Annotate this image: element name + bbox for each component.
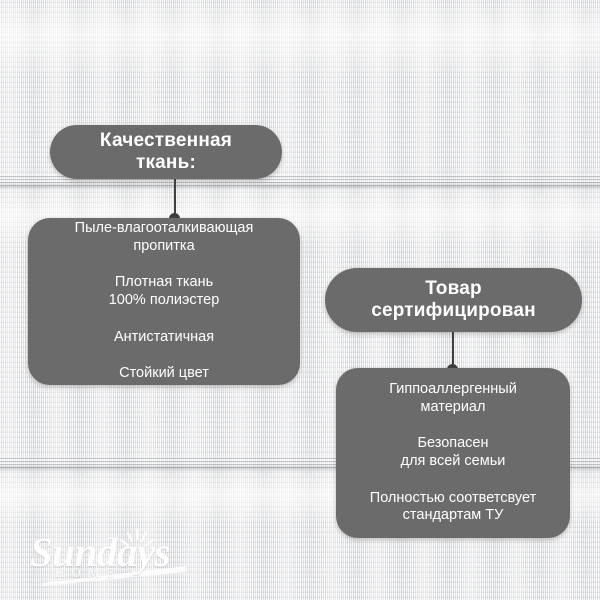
feature-line: стандартам ТУ	[370, 507, 536, 525]
promo-canvas: Качественная ткань: Пыле-влагооталкивающ…	[0, 0, 600, 600]
feature-item: Антистатичная	[114, 329, 214, 347]
feature-line: Антистатичная	[114, 329, 214, 347]
feature-line: Пыле-влагооталкивающая	[75, 220, 254, 238]
header-pill-fabric-line2: ткань:	[136, 152, 196, 174]
header-pill-fabric-line1: Качественная	[100, 130, 232, 152]
feature-item: Гиппоаллергенный материал	[389, 381, 517, 416]
header-pill-certified-line2: сертифицирован	[371, 300, 536, 322]
feature-line: Плотная ткань	[109, 274, 220, 292]
feature-line: пропитка	[75, 238, 254, 256]
header-pill-certified: Товар сертифицирован	[325, 268, 582, 332]
feature-item: Безопасен для всей семьи	[401, 435, 506, 470]
feature-item: Плотная ткань 100% полиэстер	[109, 274, 220, 309]
feature-card-fabric: Пыле-влагооталкивающая пропитка Плотная …	[28, 218, 300, 385]
feature-item: Стойкий цвет	[119, 365, 209, 383]
brand-logo: Sundays HOME	[30, 528, 200, 584]
feature-item: Полностью соответсвует стандартам ТУ	[370, 490, 536, 525]
feature-item: Пыле-влагооталкивающая пропитка	[75, 220, 254, 255]
feature-card-certified: Гиппоаллергенный материал Безопасен для …	[336, 368, 570, 538]
feature-line: Безопасен	[401, 435, 506, 453]
feature-line: материал	[389, 399, 517, 417]
feature-line: 100% полиэстер	[109, 292, 220, 310]
header-pill-fabric: Качественная ткань:	[50, 125, 282, 179]
feature-line: Стойкий цвет	[119, 365, 209, 383]
fabric-band-top	[0, 0, 600, 78]
fabric-seam-upper-shadow	[0, 182, 600, 190]
feature-line: Полностью соответсвует	[370, 490, 536, 508]
feature-line: для всей семьи	[401, 453, 506, 471]
feature-line: Гиппоаллергенный	[389, 381, 517, 399]
header-pill-certified-line1: Товар	[425, 278, 482, 300]
logo-subword: HOME	[55, 565, 121, 581]
